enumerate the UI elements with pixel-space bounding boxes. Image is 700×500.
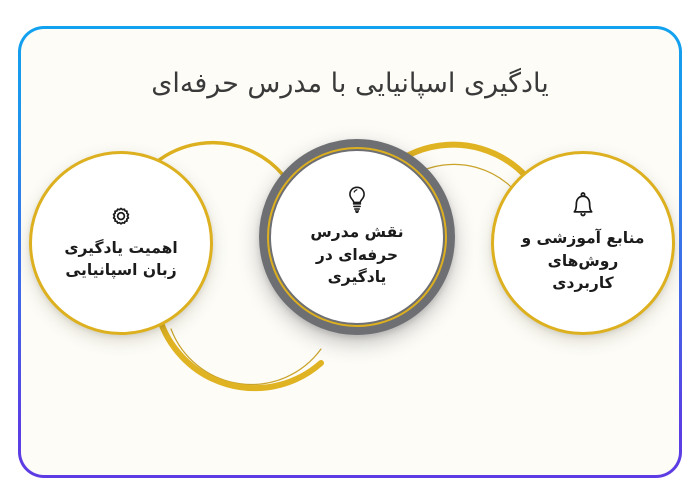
topic-label-left: اهمیت یادگیری زبان اسپانیایی	[48, 237, 193, 282]
nodes-stage: اهمیت یادگیری زبان اسپانیایی نقش مدرس حر…	[21, 29, 679, 475]
gradient-frame-border: یادگیری اسپانیایی با مدرس حرفه‌ای	[18, 26, 682, 478]
topic-circle-right[interactable]: منابع آموزشی و روش‌های کاربردی	[491, 151, 675, 335]
topic-label-center: نقش مدرس حرفه‌ای در یادگیری	[298, 221, 415, 288]
content-panel: یادگیری اسپانیایی با مدرس حرفه‌ای	[21, 29, 679, 475]
lightbulb-icon	[344, 185, 370, 215]
bell-icon	[570, 191, 596, 221]
topic-circle-center[interactable]: نقش مدرس حرفه‌ای در یادگیری	[259, 139, 455, 335]
infographic-root: یادگیری اسپانیایی با مدرس حرفه‌ای	[0, 0, 700, 500]
arc-left-bottom	[159, 317, 321, 388]
gear-icon	[108, 205, 134, 231]
topic-label-right: منابع آموزشی و روش‌های کاربردی	[505, 227, 660, 294]
arc-left-bottom-thin	[171, 329, 321, 384]
topic-circle-left[interactable]: اهمیت یادگیری زبان اسپانیایی	[29, 151, 213, 335]
